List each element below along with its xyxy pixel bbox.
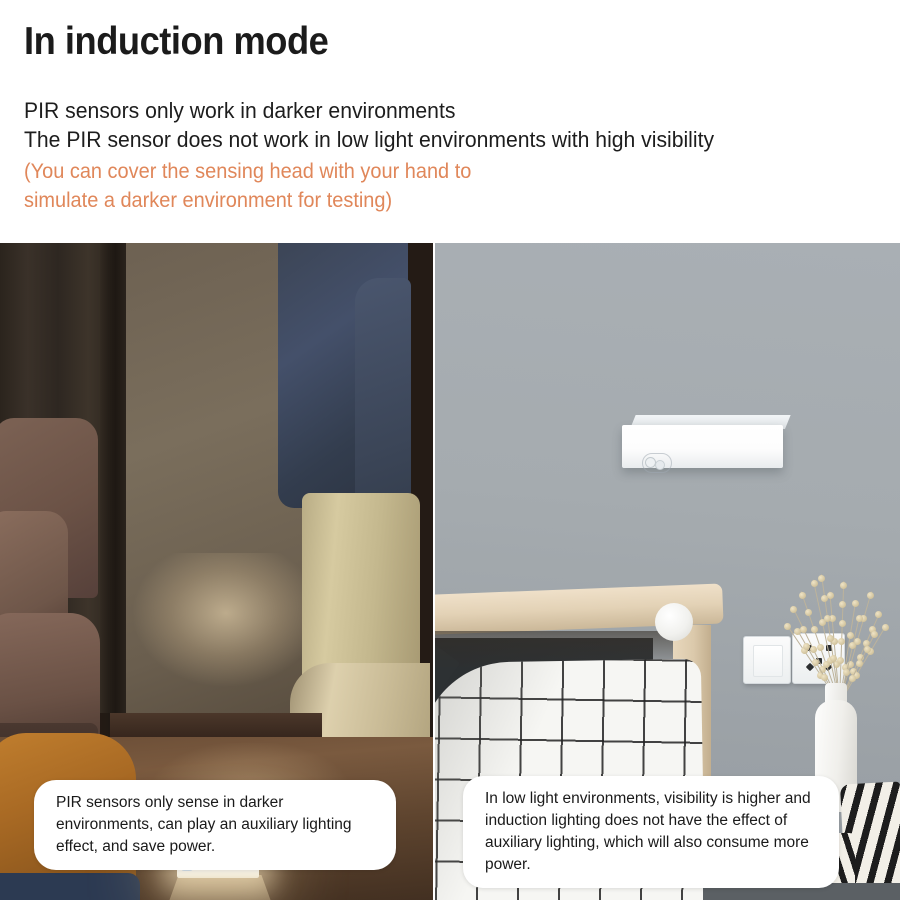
flower-bud: [818, 575, 825, 582]
flower-bud: [839, 620, 846, 627]
flower-bud: [799, 592, 806, 599]
light-sensor-icon: [655, 460, 665, 470]
sensor-light-off: [622, 415, 783, 468]
switch-rocker[interactable]: [753, 645, 783, 677]
photo-divider: [433, 243, 435, 900]
flower-bud: [867, 592, 874, 599]
flower-bud: [875, 611, 882, 618]
flower-bud: [821, 595, 828, 602]
flower-bud: [847, 632, 854, 639]
flower-bud: [805, 609, 812, 616]
flower-bud: [839, 601, 846, 608]
wall-corner-shadow: [100, 243, 126, 743]
description-line-1: PIR sensors only work in darker environm…: [24, 98, 455, 124]
header-text-block: In induction mode PIR sensors only work …: [0, 0, 900, 243]
caption-right: In low light environments, visibility is…: [463, 776, 839, 888]
baseboard: [110, 713, 322, 739]
flower-bud: [784, 623, 791, 630]
flower-bud: [794, 628, 801, 635]
product-info-page: In induction mode PIR sensors only work …: [0, 0, 900, 900]
flower-bud: [830, 655, 837, 662]
note-line-1: (You can cover the sensing head with you…: [24, 160, 471, 184]
flower-bud: [790, 606, 797, 613]
wall-light-switch[interactable]: [743, 636, 791, 684]
caption-left: PIR sensors only sense in darker environ…: [34, 780, 396, 870]
note-line-2: simulate a darker environment for testin…: [24, 189, 392, 213]
flower-bud: [849, 675, 856, 682]
flower-bud: [811, 626, 818, 633]
flower-bud: [821, 674, 828, 681]
description-line-2: The PIR sensor does not work in low ligh…: [24, 127, 714, 153]
flower-bud: [852, 600, 859, 607]
flower-bud: [856, 615, 863, 622]
flower-bud: [812, 659, 819, 666]
page-title: In induction mode: [24, 20, 328, 64]
flower-bud: [838, 638, 845, 645]
caption-left-text: PIR sensors only sense in darker environ…: [56, 792, 378, 858]
flower-bud: [882, 624, 889, 631]
flower-bud: [827, 635, 834, 642]
flower-bud: [817, 644, 824, 651]
caption-right-text: In low light environments, visibility is…: [485, 788, 821, 876]
flower-bud: [811, 580, 818, 587]
flower-bud: [864, 646, 871, 653]
rug: [0, 873, 140, 900]
pillow-pompom: [655, 603, 693, 641]
sensor-light-front-face: [622, 425, 783, 468]
flower-bud: [840, 582, 847, 589]
